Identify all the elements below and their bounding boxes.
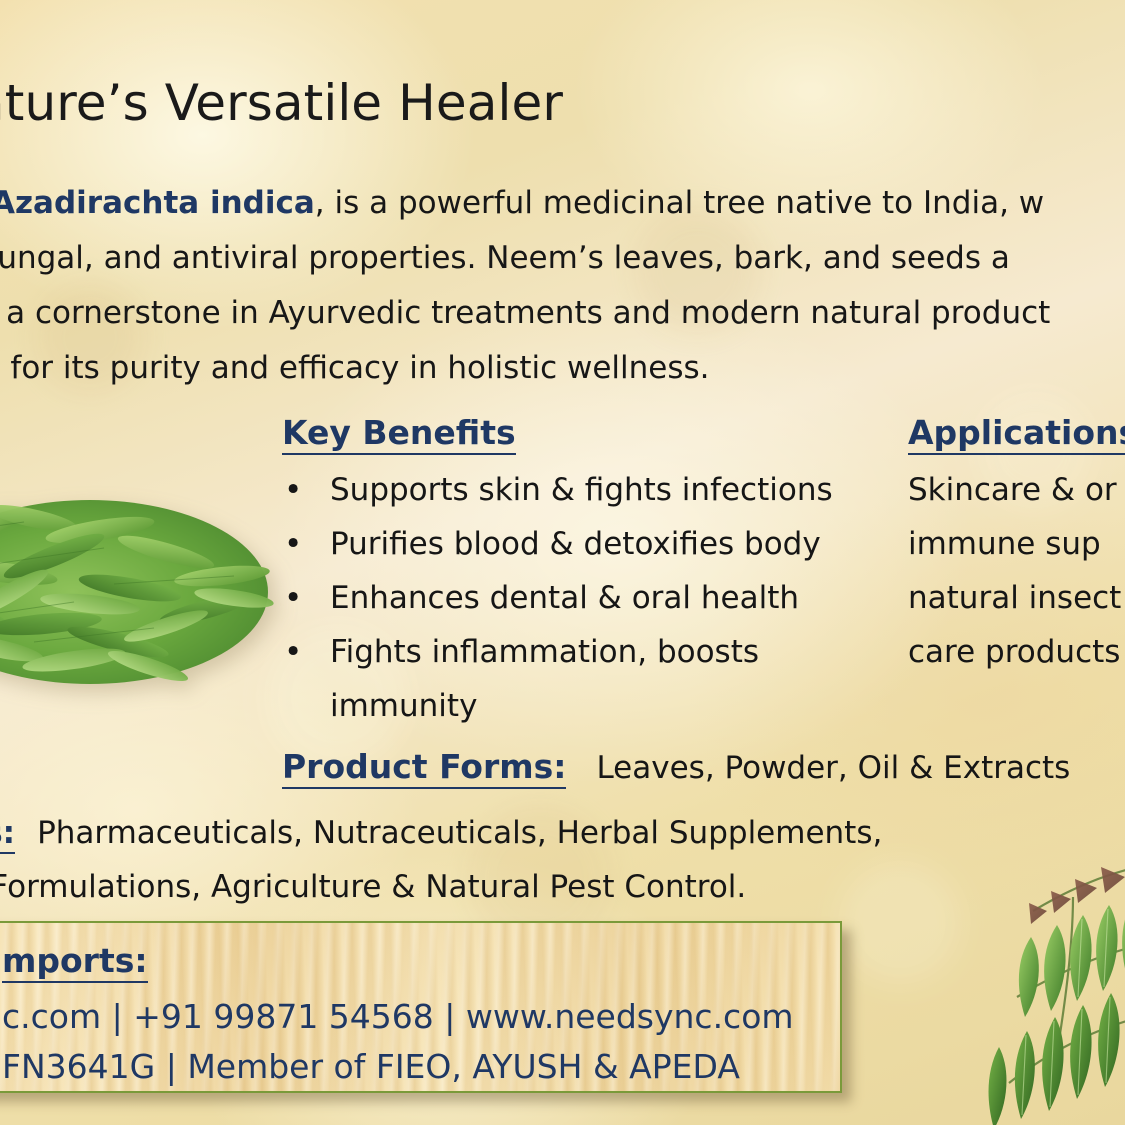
intro-line-3: g it a cornerstone in Ayurvedic treatmen…	[0, 286, 1125, 341]
industries-block: stries:Pharmaceuticals, Nutraceuticals, …	[0, 806, 1044, 914]
brochure-page: ature’s Versatile Healer as Azadirachta …	[0, 0, 1125, 1125]
list-item-label: Purifies blood & detoxifies body	[330, 526, 821, 562]
bullet-icon: •	[284, 625, 302, 679]
list-item: • Enhances dental & oral health	[282, 571, 882, 625]
applications-line-4: care products	[908, 625, 1125, 679]
intro-line-4: ally for its purity and efficacy in holi…	[0, 341, 1125, 396]
key-benefits-heading: Key Benefits	[282, 413, 516, 455]
product-forms-row: Product Forms:Leaves, Powder, Oil & Extr…	[282, 747, 1070, 786]
list-item: • Purifies blood & detoxifies body	[282, 517, 882, 571]
contact-line-registration-memberships: FN3641G | Member of FIEO, AYUSH & APEDA	[2, 1047, 740, 1086]
contact-line-email-phone-web[interactable]: c.com | +91 99871 54568 | www.needsync.c…	[2, 997, 794, 1036]
list-item: • Fights inflammation, boosts immunity	[282, 625, 882, 733]
industries-label: stries:	[0, 815, 15, 854]
list-item-label: Fights inflammation, boosts immunity	[330, 634, 759, 724]
contact-title: mports:	[2, 941, 148, 983]
industries-line-1: stries:Pharmaceuticals, Nutraceuticals, …	[0, 806, 1044, 860]
industries-line-2: netic Formulations, Agriculture & Natura…	[0, 860, 1044, 914]
product-forms-value: Leaves, Powder, Oil & Extracts	[596, 750, 1070, 786]
neem-leaf-pile-image	[0, 452, 276, 702]
contact-box: mports: c.com | +91 99871 54568 | www.ne…	[0, 921, 842, 1093]
species-name: Azadirachta indica	[0, 185, 315, 221]
intro-paragraph: as Azadirachta indica, is a powerful med…	[0, 176, 1125, 396]
list-item: • Supports skin & fights infections	[282, 463, 882, 517]
intro-line-1-post: , is a powerful medicinal tree native to…	[315, 185, 1044, 221]
bullet-icon: •	[284, 517, 302, 571]
applications-line-1: Skincare & or	[908, 463, 1125, 517]
bullet-icon: •	[284, 463, 302, 517]
applications-heading: Applications	[908, 413, 1125, 455]
industries-line-1-value: Pharmaceuticals, Nutraceuticals, Herbal …	[37, 815, 882, 851]
applications-line-2: immune sup	[908, 517, 1125, 571]
product-forms-label: Product Forms:	[282, 747, 566, 789]
applications-body: Skincare & or immune sup natural insect …	[908, 463, 1125, 679]
page-title: ature’s Versatile Healer	[0, 74, 563, 132]
list-item-label: Enhances dental & oral health	[330, 580, 799, 616]
key-benefits-list: • Supports skin & fights infections • Pu…	[282, 463, 882, 733]
intro-line-2: ntifungal, and antiviral properties. Nee…	[0, 231, 1125, 286]
intro-line-1: as Azadirachta indica, is a powerful med…	[0, 176, 1125, 231]
list-item-label: Supports skin & fights infections	[330, 472, 833, 508]
applications-line-3: natural insect	[908, 571, 1125, 625]
bullet-icon: •	[284, 571, 302, 625]
